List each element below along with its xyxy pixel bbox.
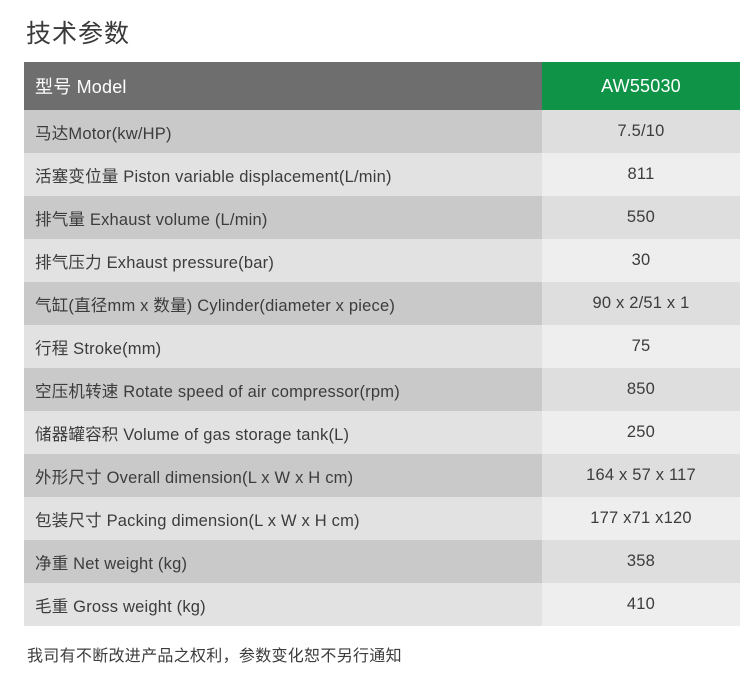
row-label: 净重 Net weight (kg) xyxy=(24,540,542,583)
row-label: 排气量 Exhaust volume (L/min) xyxy=(24,196,542,239)
row-label: 马达Motor(kw/HP) xyxy=(24,110,542,153)
table-row: 空压机转速 Rotate speed of air compressor(rpm… xyxy=(24,368,740,411)
row-value: 358 xyxy=(542,540,740,583)
table-row: 排气量 Exhaust volume (L/min) 550 xyxy=(24,196,740,239)
row-value: 30 xyxy=(542,239,740,282)
page-title: 技术参数 xyxy=(24,0,726,62)
row-value: 811 xyxy=(542,153,740,196)
table-row: 净重 Net weight (kg) 358 xyxy=(24,540,740,583)
row-value: 250 xyxy=(542,411,740,454)
footnote-text: 我司有不断改进产品之权利，参数变化恕不另行通知 xyxy=(24,626,726,666)
row-label: 空压机转速 Rotate speed of air compressor(rpm… xyxy=(24,368,542,411)
spec-sheet-page: 技术参数 型号 Model AW55030 马达Motor(kw/HP) 7.5… xyxy=(0,0,750,674)
table-row: 行程 Stroke(mm) 75 xyxy=(24,325,740,368)
row-value: 90 x 2/51 x 1 xyxy=(542,282,740,325)
row-label: 行程 Stroke(mm) xyxy=(24,325,542,368)
table-row: 外形尺寸 Overall dimension(L x W x H cm) 164… xyxy=(24,454,740,497)
technical-parameters-table: 型号 Model AW55030 马达Motor(kw/HP) 7.5/10 活… xyxy=(24,62,740,626)
table-row: 气缸(直径mm x 数量) Cylinder(diameter x piece)… xyxy=(24,282,740,325)
header-value-model: AW55030 xyxy=(542,62,740,110)
row-value: 550 xyxy=(542,196,740,239)
row-label: 活塞变位量 Piston variable displacement(L/min… xyxy=(24,153,542,196)
row-label: 储器罐容积 Volume of gas storage tank(L) xyxy=(24,411,542,454)
table-row: 包装尺寸 Packing dimension(L x W x H cm) 177… xyxy=(24,497,740,540)
table-row: 马达Motor(kw/HP) 7.5/10 xyxy=(24,110,740,153)
row-value: 850 xyxy=(542,368,740,411)
row-value: 7.5/10 xyxy=(542,110,740,153)
table-row: 储器罐容积 Volume of gas storage tank(L) 250 xyxy=(24,411,740,454)
row-label: 外形尺寸 Overall dimension(L x W x H cm) xyxy=(24,454,542,497)
row-value: 177 x71 x120 xyxy=(542,497,740,540)
table-row: 排气压力 Exhaust pressure(bar) 30 xyxy=(24,239,740,282)
row-label: 包装尺寸 Packing dimension(L x W x H cm) xyxy=(24,497,542,540)
table-header-row: 型号 Model AW55030 xyxy=(24,62,740,110)
row-value: 75 xyxy=(542,325,740,368)
row-value: 410 xyxy=(542,583,740,626)
row-label: 毛重 Gross weight (kg) xyxy=(24,583,542,626)
row-label: 气缸(直径mm x 数量) Cylinder(diameter x piece) xyxy=(24,282,542,325)
table-row: 活塞变位量 Piston variable displacement(L/min… xyxy=(24,153,740,196)
row-value: 164 x 57 x 117 xyxy=(542,454,740,497)
row-label: 排气压力 Exhaust pressure(bar) xyxy=(24,239,542,282)
table-row: 毛重 Gross weight (kg) 410 xyxy=(24,583,740,626)
header-label-model: 型号 Model xyxy=(24,62,542,110)
